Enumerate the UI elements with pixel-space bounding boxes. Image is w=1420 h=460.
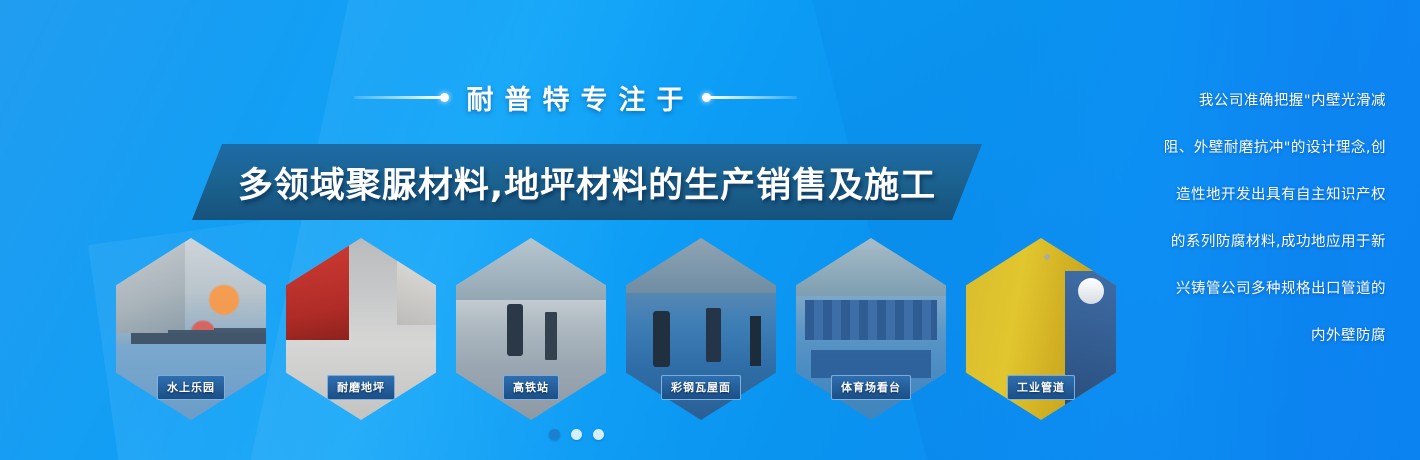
decorative-line-right [709,96,797,99]
carousel-dot-2[interactable] [571,429,582,440]
decorative-line-left [354,96,442,99]
description-line: 的系列防腐材料,成功地应用于新 [1160,219,1386,266]
carousel-dot-1[interactable] [549,429,560,440]
thumbnail-item-water-park[interactable]: 水上乐园 [116,238,266,420]
decorative-dot-icon [440,93,449,102]
description-line: 兴铸管公司多种规格出口管道的 [1160,266,1386,313]
thumbnail-caption: 耐磨地坪 [327,375,395,400]
headline-row: 耐普特专注于 [0,78,1150,117]
thumbnail-caption: 体育场看台 [831,375,911,400]
thumbnail-item-stadium-stand[interactable]: 体育场看台 [796,238,946,420]
carousel-dots [0,429,1420,440]
banner-headline: 耐普特专注于 [456,78,695,117]
thumbnail-caption: 高铁站 [503,375,559,400]
thumbnail-item-color-steel-tile-roof[interactable]: 彩钢瓦屋面 [626,238,776,420]
description-line: 阻、外壁耐磨抗冲"的设计理念,创 [1160,125,1386,172]
thumbnail-row: 水上乐园 耐磨地坪 高铁站 彩钢瓦屋面 体育场看台 [116,238,1156,420]
description-line: 内外壁防腐 [1160,313,1386,360]
page-title: 多领域聚脲材料,地坪材料的生产销售及施工 [238,157,936,208]
thumbnail-caption: 水上乐园 [157,375,225,400]
description-line: 造性地开发出具有自主知识产权 [1160,172,1386,219]
thumbnail-item-high-speed-rail-station[interactable]: 高铁站 [456,238,606,420]
thumbnail-caption: 工业管道 [1007,375,1075,400]
thumbnail-caption: 彩钢瓦屋面 [661,375,741,400]
carousel-dot-3[interactable] [593,429,604,440]
thumbnail-item-industrial-pipeline[interactable]: 工业管道 [966,238,1116,420]
description-block: 我公司准确把握"内壁光滑减 阻、外壁耐磨抗冲"的设计理念,创 造性地开发出具有自… [1160,78,1386,360]
promo-banner: 耐普特专注于 多领域聚脲材料,地坪材料的生产销售及施工 水上乐园 耐磨地坪 高铁… [0,0,1420,460]
decorative-dot-icon [702,93,711,102]
main-title-bar: 多领域聚脲材料,地坪材料的生产销售及施工 [192,144,982,220]
thumbnail-item-wear-resistant-floor[interactable]: 耐磨地坪 [286,238,436,420]
description-line: 我公司准确把握"内壁光滑减 [1160,78,1386,125]
